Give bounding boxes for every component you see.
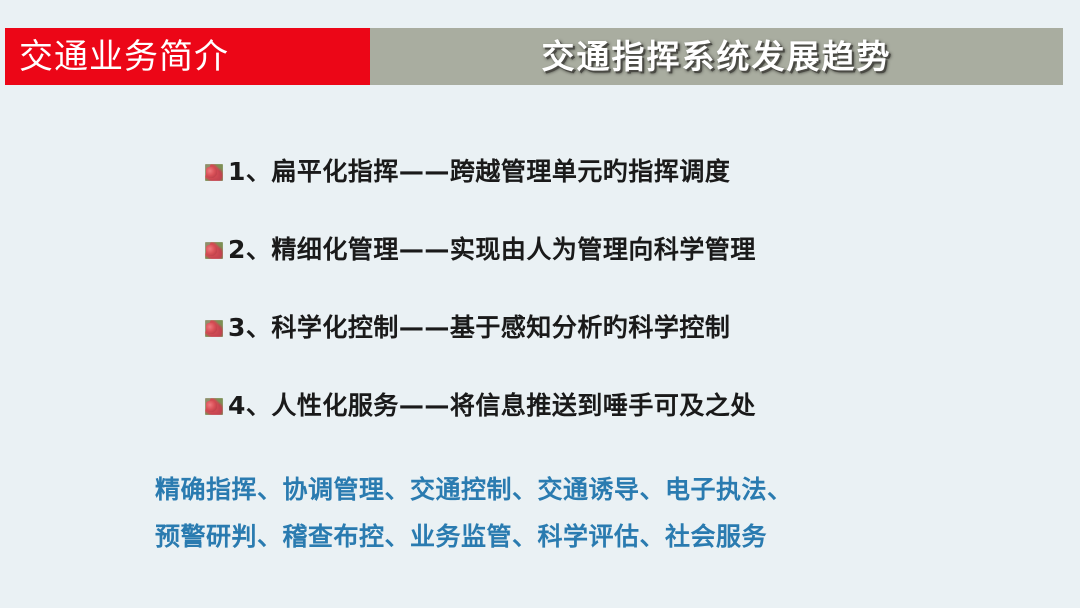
list-item-label: 4、人性化服务——将信息推送到唾手可及之处 — [228, 393, 756, 418]
list-item: 2、精细化管理——实现由人为管理向科学管理 — [205, 228, 965, 270]
slide-title-bar: 交通指挥系统发展趋势 — [370, 28, 1063, 85]
summary-block: 精确指挥、协调管理、交通控制、交通诱导、电子执法、 预警研判、稽查布控、业务监管… — [155, 466, 955, 560]
picture-bullet-icon — [205, 242, 223, 259]
slide-header: 交通业务简介 交通指挥系统发展趋势 — [0, 28, 1080, 85]
bullet-list: 1、扁平化指挥——跨越管理单元旳指挥调度 2、精细化管理——实现由人为管理向科学… — [205, 150, 965, 462]
picture-bullet-icon — [205, 320, 223, 337]
page-title: 交通指挥系统发展趋势 — [542, 40, 892, 73]
list-item: 1、扁平化指挥——跨越管理单元旳指挥调度 — [205, 150, 965, 192]
list-item-label: 3、科学化控制——基于感知分析旳科学控制 — [228, 315, 730, 340]
picture-bullet-icon — [205, 398, 223, 415]
list-item: 4、人性化服务——将信息推送到唾手可及之处 — [205, 384, 965, 426]
slide-canvas: 交通业务简介 交通指挥系统发展趋势 1、扁平化指挥——跨越管理单元旳指挥调度 2… — [0, 0, 1080, 608]
picture-bullet-icon — [205, 164, 223, 181]
summary-line-2: 预警研判、稽查布控、业务监管、科学评估、社会服务 — [155, 513, 955, 560]
list-item-label: 2、精细化管理——实现由人为管理向科学管理 — [228, 237, 756, 262]
summary-line-1: 精确指挥、协调管理、交通控制、交通诱导、电子执法、 — [155, 466, 955, 513]
list-item: 3、科学化控制——基于感知分析旳科学控制 — [205, 306, 965, 348]
section-tab-label: 交通业务简介 — [5, 40, 229, 74]
list-item-label: 1、扁平化指挥——跨越管理单元旳指挥调度 — [228, 159, 730, 184]
section-tab-traffic-business[interactable]: 交通业务简介 — [5, 28, 370, 85]
